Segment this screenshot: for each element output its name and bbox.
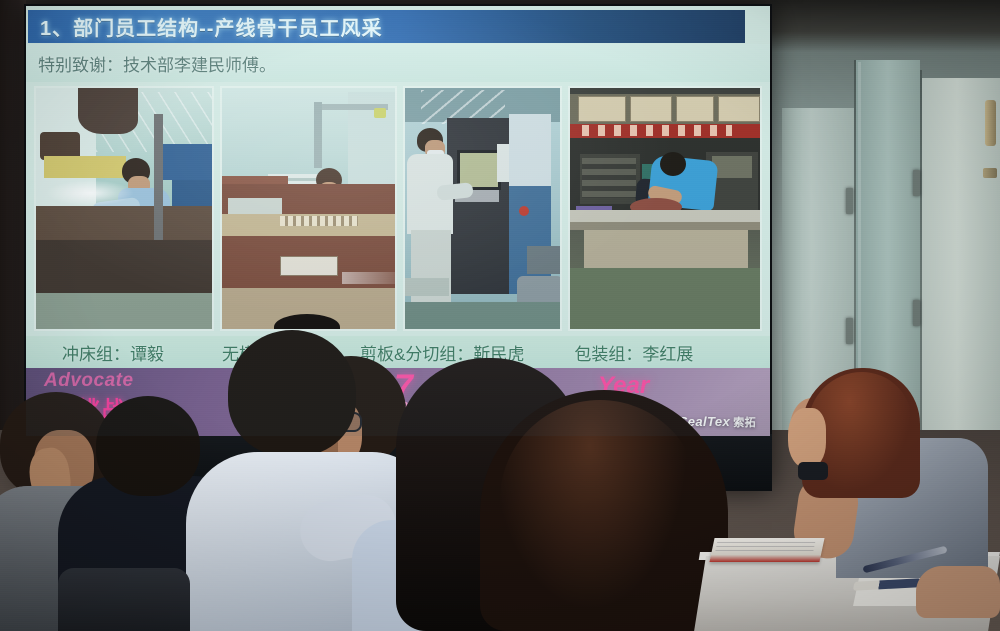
screenshot-root: 1、部门员工结构--产线骨干员工风采 特别致谢：技术部李建民师傅。 — [0, 0, 1000, 631]
slide-title-bar: 1、部门员工结构--产线骨干员工风采 — [28, 10, 745, 43]
hinge-upper-left — [846, 188, 853, 214]
person-light-blue-head — [228, 330, 356, 456]
sealtex-logo-cn: 索拓 — [733, 417, 756, 429]
photo-punch-press — [34, 86, 214, 331]
caption-packing-group: 包装组：李红展 — [524, 340, 693, 365]
left-wall — [0, 0, 26, 470]
notebook-ruled-lines — [715, 542, 816, 554]
person-foreground-hair-highlight — [500, 400, 700, 631]
hinge-lower-right — [913, 300, 920, 326]
photo-packing-bench — [568, 86, 762, 331]
hinge-lower-left — [846, 318, 853, 344]
slide-caption-row: 冲床组：谭毅 无模组：张琦 剪板&分切组：靳民虎 包装组：李红展 — [26, 336, 770, 368]
wristwatch — [798, 462, 828, 480]
cabinet-seam-2 — [920, 70, 922, 468]
photo-laminator — [220, 86, 397, 331]
banner-advocate-text: Advocate — [44, 370, 134, 392]
presentation-slide: 1、部门员工结构--产线骨干员工风采 特别致谢：技术部李建民师傅。 — [26, 6, 770, 436]
projector-screen: 1、部门员工结构--产线骨干员工风采 特别致谢：技术部李建民师傅。 — [26, 6, 770, 436]
slide-title-text: 1、部门员工结构--产线骨干员工风采 — [28, 12, 382, 41]
photo-cnc-panel — [403, 86, 562, 331]
chair-back — [58, 568, 190, 631]
door-handle-lower[interactable] — [983, 168, 997, 178]
caption-punch-group: 冲床组：谭毅 — [26, 340, 164, 365]
slide-subtitle-text: 特别致谢：技术部李建民师傅。 — [26, 51, 276, 76]
person-dark-shirt-head — [96, 396, 200, 496]
ceiling-shadow — [770, 0, 1000, 52]
slide-photo-row — [34, 86, 762, 331]
hinge-upper-right — [913, 170, 920, 196]
door-handle-upper[interactable] — [985, 100, 996, 146]
hand-holding-pen — [916, 566, 1000, 618]
slide-subtitle-bar: 特别致谢：技术部李建民师傅。 — [26, 44, 770, 82]
woman-right-hand — [788, 408, 826, 468]
